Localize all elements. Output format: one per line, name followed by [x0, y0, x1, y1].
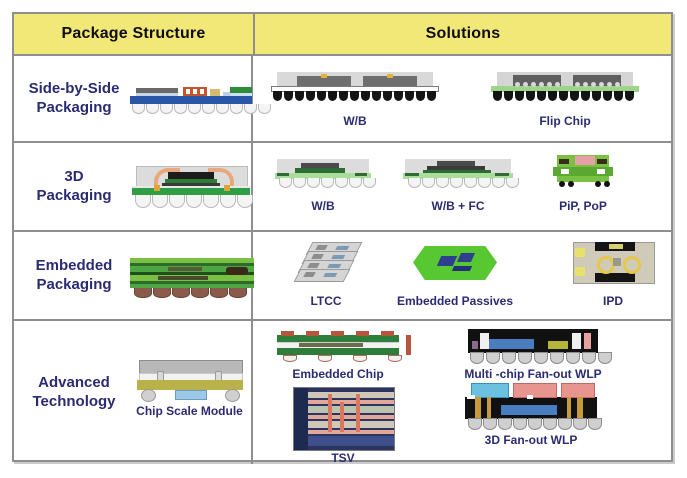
- wire-bond-package-icon: [271, 72, 439, 102]
- package-in-package-icon: [553, 155, 613, 187]
- solutions-cell-side-by-side: W/B: [253, 56, 671, 141]
- solution-caption: PiP, PoP: [539, 199, 627, 213]
- solution-caption: W/B + FC: [403, 199, 513, 213]
- solution-caption: Embedded Chip: [267, 367, 409, 381]
- solution-item: W/B: [271, 72, 439, 102]
- 3d-fanout-wlp-icon: [465, 383, 597, 431]
- embedded-substrate-cross-section-icon: [130, 256, 254, 296]
- solutions-cell-3d-packaging: W/B W/B + FC: [253, 143, 671, 230]
- solution-item: Embedded Chip: [277, 331, 399, 359]
- category-label-line2: Packaging: [18, 99, 130, 117]
- integrated-passive-device-icon: [573, 242, 653, 282]
- chip-scale-module-icon: [131, 360, 249, 408]
- table-row: 3D Packaging: [14, 143, 671, 232]
- solution-caption: LTCC: [283, 294, 369, 308]
- category-cell-advanced-technology: Advanced Technology Chip Scale Module: [14, 321, 253, 464]
- solution-item: Flip Chip: [491, 72, 639, 102]
- category-art-advanced-technology: Chip Scale Module: [130, 360, 251, 426]
- solution-item: Multi -chip Fan-out WLP: [468, 329, 598, 363]
- through-silicon-via-icon: [293, 387, 395, 451]
- category-label-line1: 3D: [18, 168, 130, 186]
- solution-item: LTCC: [295, 242, 357, 288]
- solutions-cell-embedded-packaging: LTCC Embedded Passives: [253, 232, 671, 319]
- solution-item: 3D Fan-out WLP: [465, 383, 597, 431]
- category-cell-side-by-side: Side-by-Side Packaging: [14, 56, 253, 141]
- table-header-row: Package Structure Solutions: [14, 14, 671, 56]
- diagram-root: Package Structure Solutions Side-by-Side…: [0, 0, 687, 478]
- category-label-advanced-technology: Advanced Technology: [18, 374, 130, 411]
- multi-chip-fanout-wlp-icon: [468, 329, 598, 363]
- solution-caption: 3D Fan-out WLP: [451, 433, 611, 447]
- category-label-line1: Advanced: [18, 374, 130, 392]
- solution-caption: TSV: [293, 451, 393, 465]
- flip-chip-package-icon: [491, 72, 639, 102]
- solution-caption: IPD: [573, 294, 653, 308]
- side-by-side-cross-section-icon: [130, 82, 252, 116]
- header-package-structure: Package Structure: [14, 14, 255, 54]
- category-cell-embedded-packaging: Embedded Packaging: [14, 232, 253, 319]
- header-solutions: Solutions: [255, 14, 671, 54]
- category-art-embedded-packaging: [130, 256, 254, 296]
- solution-caption: Flip Chip: [491, 114, 639, 128]
- ltcc-stack-icon: [295, 242, 357, 288]
- table-row: Advanced Technology Chip Scale Module: [14, 321, 671, 464]
- category-label-line1: Embedded: [18, 257, 130, 275]
- solution-caption: Embedded Passives: [385, 294, 525, 308]
- category-label-side-by-side: Side-by-Side Packaging: [18, 80, 130, 117]
- solution-item: W/B: [275, 159, 371, 189]
- solution-item: PiP, PoP: [553, 155, 613, 187]
- chip-scale-module-caption: Chip Scale Module: [131, 404, 249, 418]
- table-row: Embedded Packaging: [14, 232, 671, 321]
- stacked-die-wirebond-icon: [132, 164, 250, 210]
- solution-caption: W/B: [271, 114, 439, 128]
- solution-caption: W/B: [275, 199, 371, 213]
- embedded-passives-icon: [413, 240, 497, 286]
- category-label-line2: Packaging: [18, 187, 130, 205]
- wire-bond-3d-icon: [275, 159, 371, 189]
- category-label-embedded-packaging: Embedded Packaging: [18, 257, 130, 294]
- wire-bond-plus-flip-chip-icon: [403, 159, 513, 189]
- solution-item: TSV: [293, 387, 395, 451]
- solution-item: Embedded Passives: [413, 240, 497, 286]
- category-label-line1: Side-by-Side: [18, 80, 130, 98]
- category-label-line2: Technology: [18, 393, 130, 411]
- category-label-line2: Packaging: [18, 276, 130, 294]
- solution-item: IPD: [573, 242, 653, 282]
- embedded-chip-icon: [277, 331, 399, 359]
- solution-item: W/B + FC: [403, 159, 513, 189]
- category-label-3d-packaging: 3D Packaging: [18, 168, 130, 205]
- solution-caption: Multi -chip Fan-out WLP: [450, 367, 616, 381]
- packaging-solutions-table: Package Structure Solutions Side-by-Side…: [12, 12, 673, 462]
- category-cell-3d-packaging: 3D Packaging: [14, 143, 253, 230]
- category-art-side-by-side: [130, 82, 252, 116]
- solutions-cell-advanced-technology: Embedded Chip Multi -chip Fan-out WLP: [253, 321, 671, 464]
- category-art-3d-packaging: [130, 164, 251, 210]
- table-row: Side-by-Side Packaging: [14, 56, 671, 143]
